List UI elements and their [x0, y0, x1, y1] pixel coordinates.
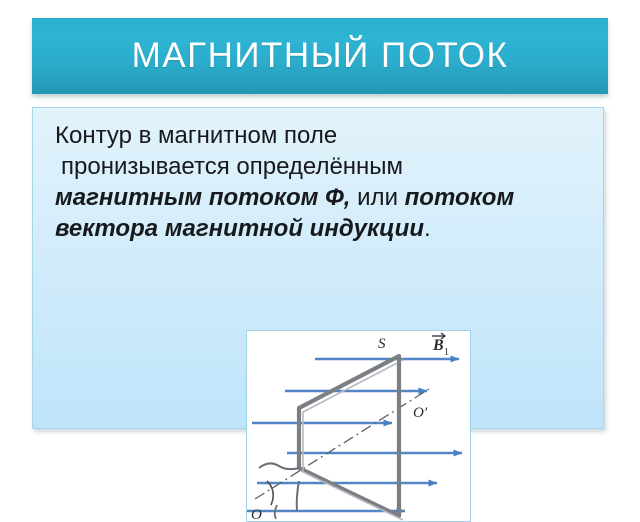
label-axis-point-far: O′: [413, 405, 428, 421]
body-line-3-conjunction: или: [350, 184, 404, 211]
page-title: МАГНИТНЫЙ ПОТОК: [132, 36, 509, 76]
body-line-1: Контур в магнитном поле: [55, 122, 337, 149]
body-line-4-period: .: [424, 215, 431, 242]
label-area-S: S: [378, 336, 386, 352]
body-line-2: пронизывается определённым: [55, 151, 403, 182]
body-line-3-emphasis-b: потоком: [405, 184, 515, 211]
lead-wire-lower: [297, 481, 299, 511]
loop-highlight: [303, 360, 403, 520]
label-field-subscript: 1: [444, 347, 449, 358]
slide-title-bar: МАГНИТНЫЙ ПОТОК: [32, 18, 608, 94]
lead-wire-upper: [259, 463, 299, 469]
label-axis-point-near: O: [251, 507, 262, 521]
slide-body-text: Контур в магнитном поле пронизывается оп…: [55, 120, 600, 244]
magnetic-field-arrows: [247, 359, 462, 511]
physics-figure: S B 1 O′ O: [246, 330, 471, 522]
body-line-4-emphasis: вектора магнитной индукции: [55, 215, 424, 242]
loop-outline: [299, 356, 399, 516]
axis-angle-arc: [267, 481, 273, 505]
label-field-B: B: [432, 337, 444, 354]
figure-svg: S B 1 O′ O: [247, 331, 470, 521]
slide-content-panel: Контур в магнитном поле пронизывается оп…: [32, 107, 604, 429]
body-line-3-emphasis-a: магнитным потоком Ф,: [55, 184, 350, 211]
